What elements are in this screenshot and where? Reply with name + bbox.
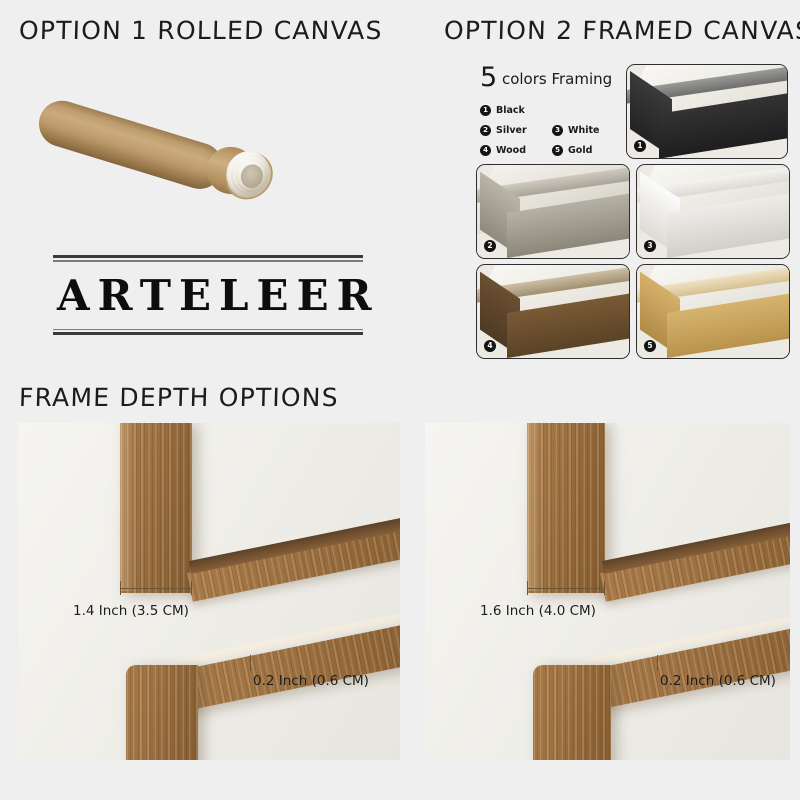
logo-rule-bottom-thin — [53, 329, 363, 331]
depth-photo-1-4-inch: 1.4 Inch (3.5 CM) 0.2 Inch (0.6 CM) — [18, 423, 400, 760]
legend-count: 5 — [480, 62, 497, 93]
logo-rule-bottom-thick — [53, 332, 363, 335]
option2-title: OPTION 2 FRAMED CANVAS — [444, 16, 800, 45]
legend-label-black: Black — [496, 105, 525, 116]
rolled-canvas-tube-image — [32, 62, 292, 202]
edge-dimension-label: 0.2 Inch (0.6 CM) — [253, 673, 369, 689]
legend-item-black: 1 Black — [480, 105, 552, 116]
legend-label-white: White — [568, 125, 599, 136]
depth-dimension-tick-left — [527, 581, 528, 595]
brand-logo: ARTELEER — [53, 255, 363, 335]
post-bevel — [527, 423, 543, 591]
frame-depth-title: FRAME DEPTH OPTIONS — [19, 383, 340, 412]
swatch-badge-4: 4 — [484, 340, 496, 352]
frame-swatch-white[interactable]: 3 — [636, 164, 790, 259]
swatch-badge-3: 3 — [644, 240, 656, 252]
number-badge-4-icon: 4 — [480, 145, 491, 156]
legend-title: 5 colors Framing — [480, 64, 640, 91]
legend-label-wood: Wood — [496, 145, 526, 156]
legend-item-wood: 4 Wood — [480, 145, 552, 156]
swatch-badge-5: 5 — [644, 340, 656, 352]
edge-dimension-tick — [657, 655, 658, 671]
depth-dimension-label: 1.4 Inch (3.5 CM) — [73, 603, 189, 619]
depth-dimension-line — [527, 588, 605, 589]
legend-item-silver: 2 Silver — [480, 125, 552, 136]
option1-title: OPTION 1 ROLLED CANVAS — [19, 16, 383, 45]
frame-vertical-post-upper — [120, 423, 192, 593]
infographic-page: OPTION 1 ROLLED CANVAS ARTELEER OPTION 2… — [0, 0, 800, 800]
frame-swatch-wood[interactable]: 4 — [476, 264, 630, 359]
depth-dimension-line — [120, 588, 192, 589]
number-badge-1-icon: 1 — [480, 105, 491, 116]
legend-title-text: colors Framing — [497, 70, 612, 88]
legend-item-white: 3 White — [552, 125, 624, 136]
edge-dimension-tick — [250, 655, 251, 671]
framing-colors-legend: 5 colors Framing 1 Black 2 Silver 3 Whit… — [480, 64, 640, 156]
frame-vertical-post-upper — [527, 423, 605, 593]
legend-label-gold: Gold — [568, 145, 592, 156]
post-bevel — [120, 423, 136, 591]
depth-dimension-tick-right — [191, 581, 192, 595]
frame-vertical-post-lower — [126, 665, 198, 760]
depth-dimension-tick-left — [120, 581, 121, 595]
logo-rule-top-thick — [53, 255, 363, 258]
tube-body — [33, 95, 228, 195]
frame-swatch-silver[interactable]: 2 — [476, 164, 630, 259]
depth-photo-1-6-inch: 1.6 Inch (4.0 CM) 0.2 Inch (0.6 CM) — [425, 423, 790, 760]
number-badge-2-icon: 2 — [480, 125, 491, 136]
frame-swatch-gold[interactable]: 5 — [636, 264, 790, 359]
depth-dimension-tick-right — [604, 581, 605, 595]
frame-vertical-post-lower — [533, 665, 611, 760]
swatch-badge-2: 2 — [484, 240, 496, 252]
number-badge-5-icon: 5 — [552, 145, 563, 156]
legend-label-silver: Silver — [496, 125, 527, 136]
legend-item-gold: 5 Gold — [552, 145, 624, 156]
swatch-badge-1: 1 — [634, 140, 646, 152]
depth-dimension-label: 1.6 Inch (4.0 CM) — [480, 603, 596, 619]
frame-swatch-black[interactable]: 1 — [626, 64, 788, 159]
brand-wordmark: ARTELEER — [53, 262, 363, 329]
number-badge-3-icon: 3 — [552, 125, 563, 136]
edge-dimension-label: 0.2 Inch (0.6 CM) — [660, 673, 776, 689]
